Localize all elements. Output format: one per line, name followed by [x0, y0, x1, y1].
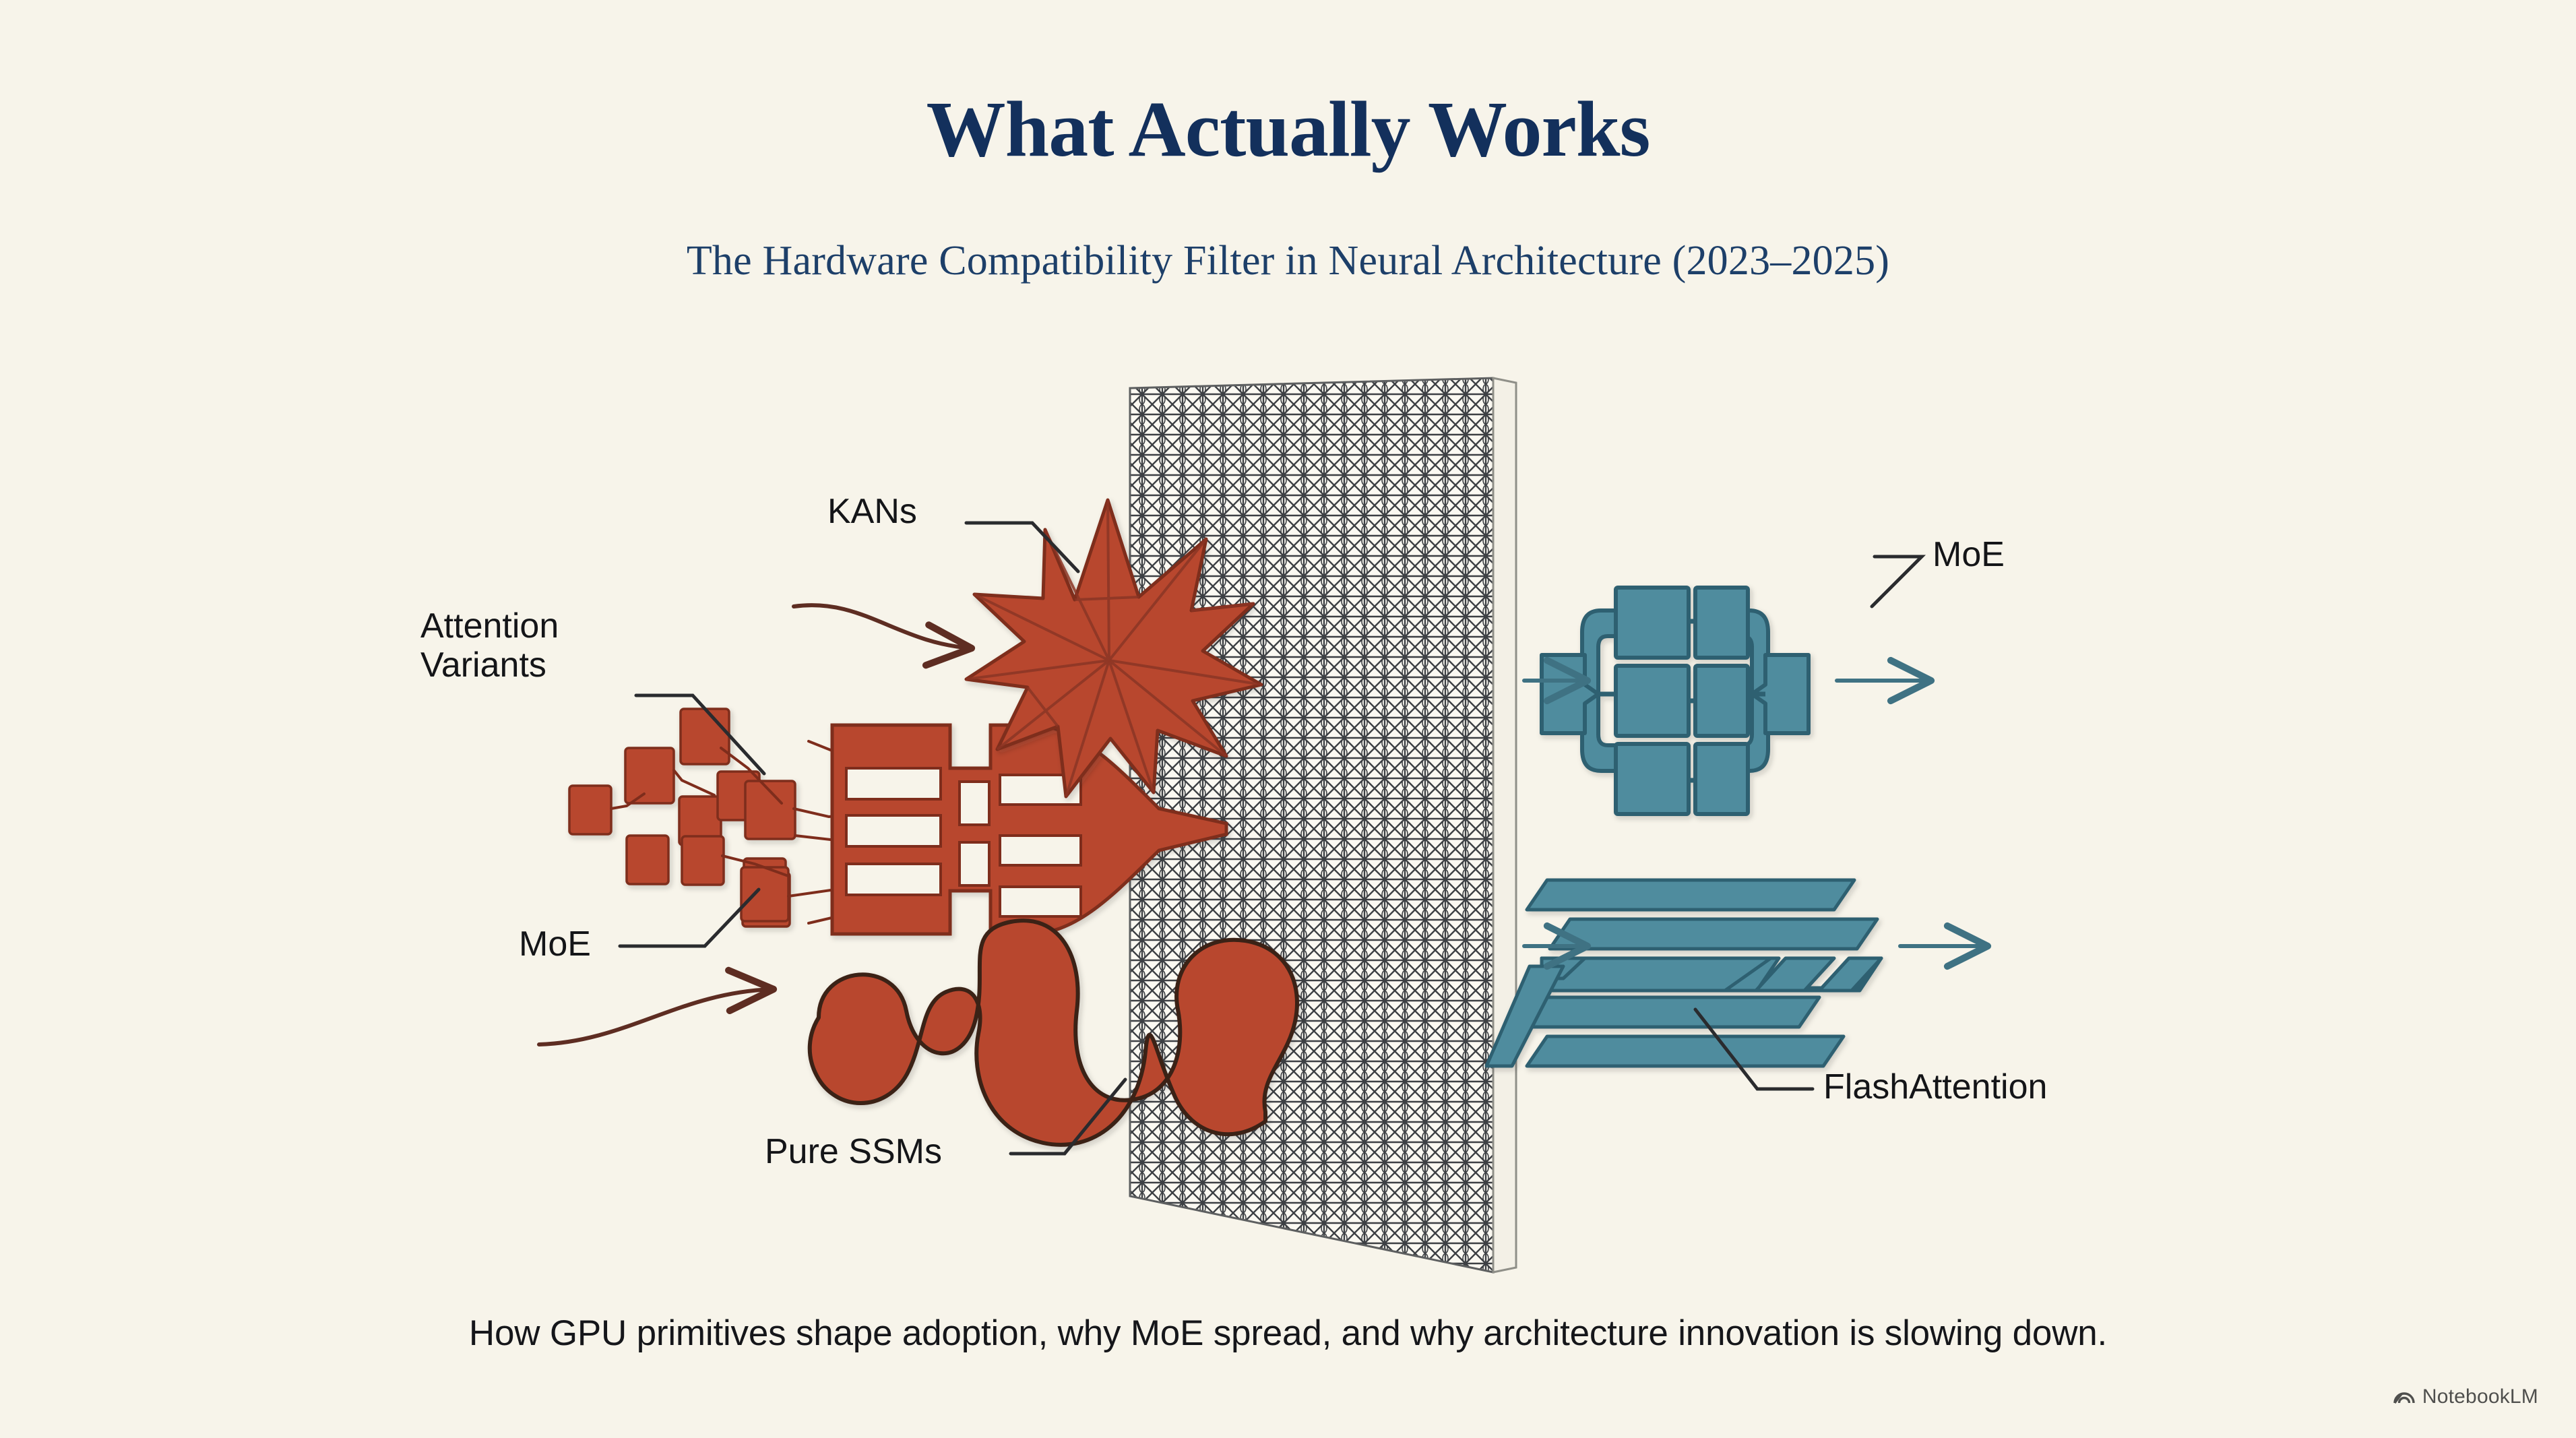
leader-moe-left	[620, 889, 759, 946]
inbound-arrows	[539, 605, 972, 1044]
notebooklm-label: NotebookLM	[2422, 1385, 2538, 1408]
moe-circuit-block	[1542, 588, 1809, 814]
leader-attention-variants	[636, 695, 764, 774]
leader-kans	[966, 523, 1078, 571]
leader-moe-right	[1872, 557, 1922, 606]
attention-variants-moe-block	[832, 725, 1226, 934]
label-moe-left: MoE	[519, 925, 591, 964]
gpu-primitive-mesh-filter	[1112, 364, 1516, 1294]
inbound-arrow-top	[794, 605, 972, 648]
caption-text: How GPU primitives shape adoption, why M…	[0, 1313, 2576, 1354]
page-subtitle: The Hardware Compatibility Filter in Neu…	[0, 237, 2576, 285]
notebooklm-watermark: NotebookLM	[2393, 1385, 2538, 1408]
label-moe-right: MoE	[1933, 535, 2005, 574]
inbound-arrow-bottom	[539, 989, 774, 1044]
diagram-illustration	[0, 0, 2576, 1438]
label-pure-ssms: Pure SSMs	[765, 1132, 942, 1171]
left-expert-squares	[569, 709, 795, 927]
pure-ssms-serpentine	[810, 920, 1297, 1145]
label-kans: KANs	[827, 492, 917, 531]
kans-spiked-star	[966, 500, 1261, 796]
flashattention-bars	[1486, 880, 1881, 1066]
label-leader-lines	[620, 523, 1922, 1154]
label-flashattention: FlashAttention	[1823, 1067, 2047, 1106]
leader-pure-ssms	[1011, 1080, 1125, 1154]
notebooklm-arc-icon	[2393, 1386, 2416, 1408]
outbound-arrows	[1524, 681, 1988, 946]
leader-flashattention	[1695, 1009, 1813, 1089]
page-title: What Actually Works	[0, 89, 2576, 170]
infographic-canvas: What Actually Works The Hardware Compati…	[0, 0, 2576, 1438]
label-attention-variants: Attention Variants	[420, 606, 559, 685]
left-expert-wires	[611, 741, 876, 923]
